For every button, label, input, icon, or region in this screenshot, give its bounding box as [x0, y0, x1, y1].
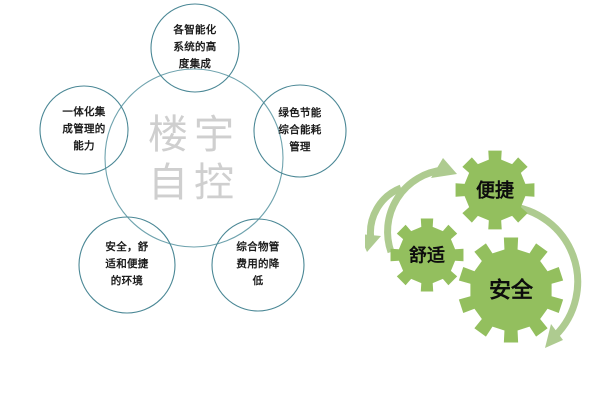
venn-lobe-top-line3: 度集成	[179, 57, 212, 70]
venn-lobe-left-line1: 一体化集	[62, 105, 105, 118]
venn-lobe-left-line2: 成管理的	[62, 122, 105, 135]
venn-lobe-bottom-right-line3: 低	[252, 274, 264, 287]
gear-safe[interactable]: 安全	[459, 237, 563, 342]
venn-lobe-right-line2: 综合能耗	[278, 123, 321, 136]
venn-lobe-bottom-left-line3: 的环境	[111, 274, 144, 287]
gear-safe-label: 安全	[489, 278, 534, 304]
gear-comfortable[interactable]: 舒适	[391, 219, 464, 292]
gear-comfortable-label: 舒适	[409, 244, 445, 266]
venn-center-label-line1: 楼宇	[148, 112, 240, 158]
venn-lobe-top-line1: 各智能化	[172, 23, 216, 36]
venn-lobe-bottom-left-line2: 适和便捷	[105, 257, 148, 270]
venn-lobe-bottom-right-line1: 综合物管	[236, 240, 279, 253]
gear-convenient-label: 便捷	[476, 179, 515, 202]
gears-diagram: 便捷舒适安全	[365, 140, 600, 370]
venn-lobe-right-line3: 管理	[289, 140, 311, 153]
venn-lobe-top-line2: 系统的高	[173, 40, 216, 53]
venn-lobe-left-line3: 能力	[73, 139, 95, 152]
venn-lobe-bottom-left-line1: 安全，舒	[105, 240, 148, 253]
venn-lobe-right-line1: 绿色节能	[278, 106, 321, 119]
venn-lobe-bottom-right-line2: 费用的降	[236, 257, 279, 270]
venn-diagram: 楼宇 自控 各智能化 系统的高 度集成 一体化集 成管理的 能力 绿色节能 综合…	[10, 0, 350, 340]
diagram-canvas: 楼宇 自控 各智能化 系统的高 度集成 一体化集 成管理的 能力 绿色节能 综合…	[0, 0, 600, 400]
venn-center-label-line2: 自控	[148, 160, 240, 206]
gear-convenient[interactable]: 便捷	[456, 151, 535, 230]
